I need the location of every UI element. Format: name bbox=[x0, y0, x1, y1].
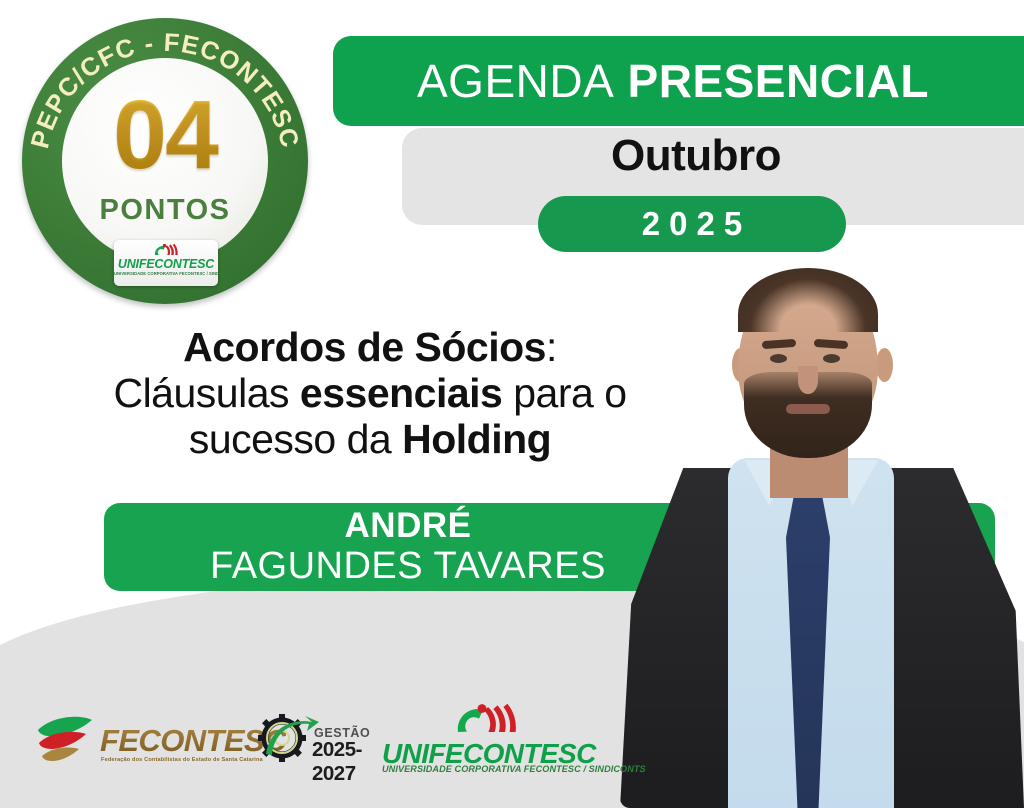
gestao-logo: GESTÃO 2025-2027 bbox=[258, 708, 380, 774]
title-l3-a: sucesso da bbox=[189, 416, 402, 462]
unifecontesc-logo: UNIFECONTESC UNIVERSIDADE CORPORATIVA FE… bbox=[382, 700, 592, 782]
gear-arrow-icon bbox=[258, 712, 320, 770]
agenda-header-banner: AGENDA PRESENCIAL bbox=[333, 36, 1024, 126]
title-line-1: Acordos de Sócios: bbox=[40, 325, 700, 371]
speaker-portrait bbox=[620, 262, 1024, 808]
session-title: Acordos de Sócios: Cláusulas essenciais … bbox=[40, 325, 700, 463]
title-colon: : bbox=[546, 324, 557, 370]
gestao-years: 2025-2027 bbox=[312, 738, 380, 786]
year-pill: 2025 bbox=[538, 196, 846, 252]
portrait-hair bbox=[738, 268, 878, 332]
agenda-header-text: AGENDA PRESENCIAL bbox=[417, 58, 929, 104]
chip-brand-name: UNIFECONTESC bbox=[114, 257, 218, 271]
unifecontesc-subtitle: UNIVERSIDADE CORPORATIVA FECONTESC / SIN… bbox=[382, 764, 592, 774]
month-label: Outubro bbox=[402, 131, 990, 181]
chip-brand-subtitle: UNIVERSIDADE CORPORATIVA FECONTESC / SIN… bbox=[114, 271, 218, 276]
title-l3-bold: Holding bbox=[402, 416, 551, 462]
badge-points-label: PONTOS bbox=[22, 194, 308, 227]
fecontesc-logo: FECONTESC Federação dos Contabilistas do… bbox=[34, 706, 246, 778]
title-l2-b: para o bbox=[502, 370, 626, 416]
presencial-word: PRESENCIAL bbox=[628, 55, 929, 107]
portrait-nose bbox=[798, 366, 818, 394]
pepc-points-badge: PEPC/CFC - FECONTESC 04 PONTOS UNIFECONT… bbox=[22, 18, 308, 304]
title-topic: Acordos de Sócios bbox=[183, 324, 546, 370]
fecontesc-subtitle: Federação dos Contabilistas do Estado de… bbox=[101, 757, 263, 763]
unifecontesc-signal-icon bbox=[454, 702, 520, 736]
unifecontesc-signal-icon bbox=[153, 243, 179, 257]
portrait-eye-left bbox=[770, 354, 787, 363]
portrait-eye-right bbox=[823, 354, 840, 363]
badge-points-number: 04 bbox=[22, 86, 308, 183]
badge-unifecontesc-chip: UNIFECONTESC UNIVERSIDADE CORPORATIVA FE… bbox=[114, 240, 218, 286]
title-line-3: sucesso da Holding bbox=[40, 417, 700, 463]
title-l2-bold: essenciais bbox=[300, 370, 502, 416]
title-l2-a: Cláusulas bbox=[113, 370, 299, 416]
footer-logo-row: FECONTESC Federação dos Contabilistas do… bbox=[0, 700, 620, 784]
portrait-mouth bbox=[786, 404, 830, 414]
title-line-2: Cláusulas essenciais para o bbox=[40, 371, 700, 417]
agenda-word: AGENDA bbox=[417, 55, 614, 107]
portrait-ear-right bbox=[876, 348, 893, 382]
event-flyer: AGENDA PRESENCIAL Outubro 2025 PEPC/CFC … bbox=[0, 0, 1024, 808]
year-label: 2025 bbox=[633, 205, 751, 243]
fecontesc-flame-icon bbox=[34, 714, 96, 768]
